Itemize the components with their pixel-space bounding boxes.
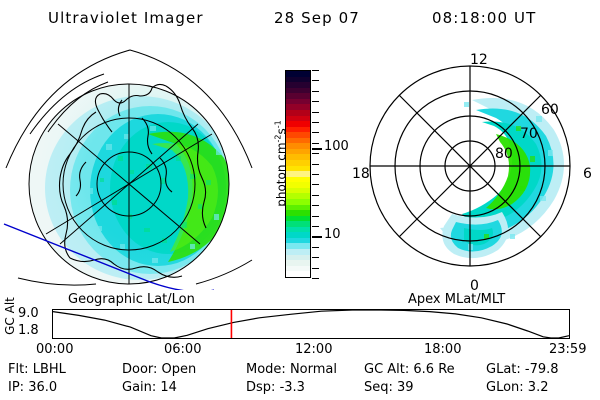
mlat-ring-label: 80 <box>495 146 513 162</box>
status-field-value: 6.6 Re <box>413 362 454 377</box>
status-field: IP: 36.0 <box>8 380 57 395</box>
mlt-polar-projection: 126018 607080 <box>340 38 600 290</box>
colorbar-minor-tick <box>312 143 319 144</box>
colorbar-minor-tick <box>312 91 319 92</box>
colorbar-minor-tick <box>312 153 319 154</box>
colorbar-major-tick <box>312 148 322 150</box>
colorbar-minor-tick <box>312 80 319 81</box>
colorbar-minor-tick <box>312 257 319 258</box>
colorbar[interactable]: photon cm-2s-1 10010 <box>258 60 344 290</box>
status-field: GLon: 3.2 <box>486 380 548 395</box>
colorbar-minor-tick <box>312 278 319 279</box>
status-field: Mode: Normal <box>246 362 337 377</box>
header-bar: Ultraviolet Imager 28 Sep 07 08:18:00 UT <box>0 6 600 32</box>
time-axis-tick-label: 00:00 <box>36 342 73 357</box>
status-footer: Flt: LBHLDoor: OpenMode: NormalGC Alt: 6… <box>0 362 600 400</box>
colorbar-minor-tick <box>312 101 319 102</box>
status-field-label: Mode: <box>246 362 290 377</box>
colorbar-minor-tick <box>312 112 319 113</box>
mlt-hour-label: 18 <box>352 166 370 182</box>
status-field: GLat: -79.8 <box>486 362 559 377</box>
colorbar-minor-tick <box>312 247 319 248</box>
observation-date: 28 Sep 07 <box>274 9 360 27</box>
status-field-value: Open <box>162 362 197 377</box>
mlt-hour-label: 6 <box>583 166 592 182</box>
orbit-altitude-strip[interactable]: Geographic Lat/Lon Apex MLat/MLT GC Alt … <box>0 292 600 360</box>
colorbar-minor-tick <box>312 70 319 71</box>
colorbar-minor-tick <box>312 216 319 217</box>
colorbar-minor-tick <box>312 174 319 175</box>
time-axis-tick-label: 23:59 <box>549 342 586 357</box>
status-field-label: IP: <box>8 380 28 395</box>
status-field: Gain: 14 <box>122 380 177 395</box>
apex-mlat-mlt-panel[interactable]: 126018 607080 <box>340 38 600 290</box>
status-field-label: Flt: <box>8 362 33 377</box>
status-field-label: Dsp: <box>246 380 280 395</box>
gc-alt-axis-label: GC Alt <box>3 290 17 342</box>
status-field-value: -79.8 <box>525 362 559 377</box>
colorbar-gradient <box>285 70 311 278</box>
status-field: Door: Open <box>122 362 196 377</box>
status-field-value: 3.2 <box>528 380 549 395</box>
colorbar-unit-exp2: -1 <box>274 120 283 128</box>
status-field: Dsp: -3.3 <box>246 380 305 395</box>
status-field-value: 36.0 <box>28 380 57 395</box>
colorbar-minor-tick <box>312 226 319 227</box>
status-field: GC Alt: 6.6 Re <box>364 362 455 377</box>
gc-alt-max-tick: 9.0 <box>18 306 39 321</box>
colorbar-band <box>286 271 310 277</box>
colorbar-minor-tick <box>312 164 319 165</box>
colorbar-minor-tick <box>312 195 319 196</box>
orbit-altitude-plot[interactable] <box>52 309 570 339</box>
gc-alt-min-tick: 1.8 <box>18 323 39 338</box>
colorbar-major-tick <box>312 236 322 238</box>
geographic-panel-caption: Geographic Lat/Lon <box>68 292 195 307</box>
mlat-ring-label: 70 <box>520 126 538 142</box>
mlt-polar-grid <box>370 66 570 266</box>
status-field-value: 39 <box>397 380 414 395</box>
colorbar-minor-tick <box>312 184 319 185</box>
status-field: Seq: 39 <box>364 380 414 395</box>
colorbar-unit-exp1: -2 <box>274 134 283 142</box>
time-axis-tick-label: 12:00 <box>295 342 332 357</box>
mlat-ring-label: 60 <box>541 102 559 118</box>
status-field-label: GC Alt: <box>364 362 413 377</box>
time-axis-tick-label: 18:00 <box>424 342 461 357</box>
time-axis-tick-label: 06:00 <box>164 342 201 357</box>
colorbar-minor-tick <box>312 268 319 269</box>
geographic-image-panel[interactable] <box>0 38 258 290</box>
status-field-label: GLat: <box>486 362 525 377</box>
status-field-label: Door: <box>122 362 162 377</box>
observation-time: 08:18:00 UT <box>432 9 536 27</box>
status-field-value: LBHL <box>33 362 66 377</box>
status-field-label: Seq: <box>364 380 397 395</box>
geographic-projection <box>0 38 258 290</box>
mlt-panel-caption: Apex MLat/MLT <box>408 292 505 307</box>
mlt-hour-label: 0 <box>470 278 479 290</box>
page-title: Ultraviolet Imager <box>48 9 204 27</box>
status-field-value: Normal <box>290 362 337 377</box>
mlt-hour-label: 12 <box>470 52 488 68</box>
orbit-plot-frame <box>53 310 570 339</box>
colorbar-minor-tick <box>312 132 319 133</box>
status-field-value: -3.3 <box>280 380 305 395</box>
colorbar-minor-tick <box>312 205 319 206</box>
colorbar-minor-tick <box>312 122 319 123</box>
status-field: Flt: LBHL <box>8 362 66 377</box>
colorbar-tick-label: 10 <box>324 229 341 241</box>
status-field-label: Gain: <box>122 380 160 395</box>
status-field-label: GLon: <box>486 380 528 395</box>
status-field-value: 14 <box>160 380 177 395</box>
